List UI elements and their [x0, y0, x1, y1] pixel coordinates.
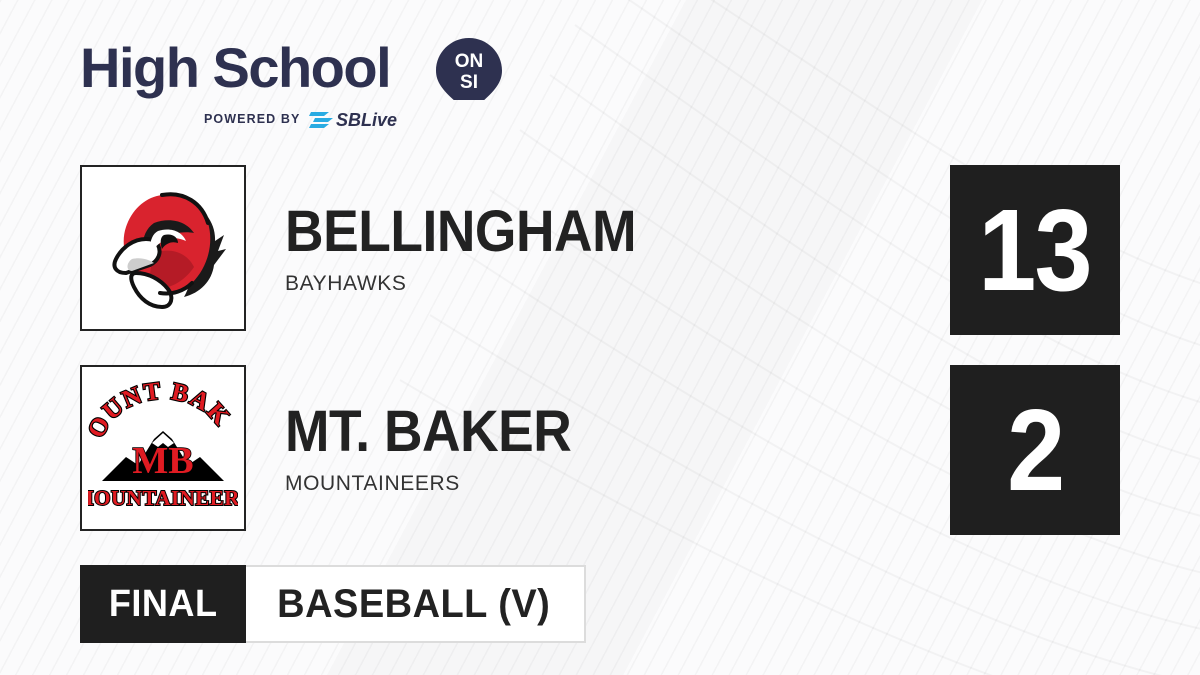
onsi-pin-icon: ON SI	[436, 38, 502, 100]
powered-by-label: POWERED BY	[204, 112, 300, 126]
team-mascot: MOUNTAINEERS	[285, 472, 925, 496]
team-logo-box	[80, 165, 246, 331]
wordmark-text: High School	[80, 38, 390, 99]
team-text-block: BELLINGHAM BAYHAWKS	[285, 203, 925, 296]
sblive-text: SBLive	[336, 110, 397, 130]
score-box: 13	[950, 165, 1120, 335]
mountaineers-mountain-logo: MOUNT BAKER MB MOUNTAINEERS	[88, 373, 238, 523]
status-bar: FINAL BASEBALL (V)	[80, 565, 586, 643]
game-status-badge: FINAL	[80, 565, 246, 643]
game-status-text: FINAL	[109, 585, 218, 623]
team-logo-box: MOUNT BAKER MB MOUNTAINEERS	[80, 365, 246, 531]
high-school-wordmark: High School ON SI	[80, 38, 510, 100]
team-mascot: BAYHAWKS	[285, 272, 925, 296]
team-text-block: MT. BAKER MOUNTAINEERS	[285, 403, 925, 496]
team-name: MT. BAKER	[285, 403, 874, 461]
sport-label-box: BASEBALL (V)	[246, 565, 585, 643]
powered-by-block: POWERED BY SBLive	[204, 108, 421, 130]
bayhawks-hawk-logo	[88, 173, 238, 323]
score-value: 13	[979, 192, 1092, 308]
logo-base-text: MOUNTAINEERS	[88, 486, 238, 510]
pin-line-2: SI	[460, 72, 478, 93]
score-box: 2	[950, 365, 1120, 535]
logo-arch-text: MOUNT BAKER	[88, 373, 235, 442]
logo-monogram: MB	[132, 440, 193, 482]
sblive-logo: SBLive	[309, 108, 421, 130]
score-value: 2	[1007, 392, 1063, 508]
sblive-swoosh-icon	[309, 112, 333, 128]
sport-label-text: BASEBALL (V)	[278, 584, 551, 624]
brand-header: High School ON SI POWERED BY SBLive	[80, 38, 510, 133]
team-name: BELLINGHAM	[285, 203, 874, 261]
pin-line-1: ON	[455, 51, 484, 72]
scoreboard-graphic: High School ON SI POWERED BY SBLive	[0, 0, 1200, 675]
